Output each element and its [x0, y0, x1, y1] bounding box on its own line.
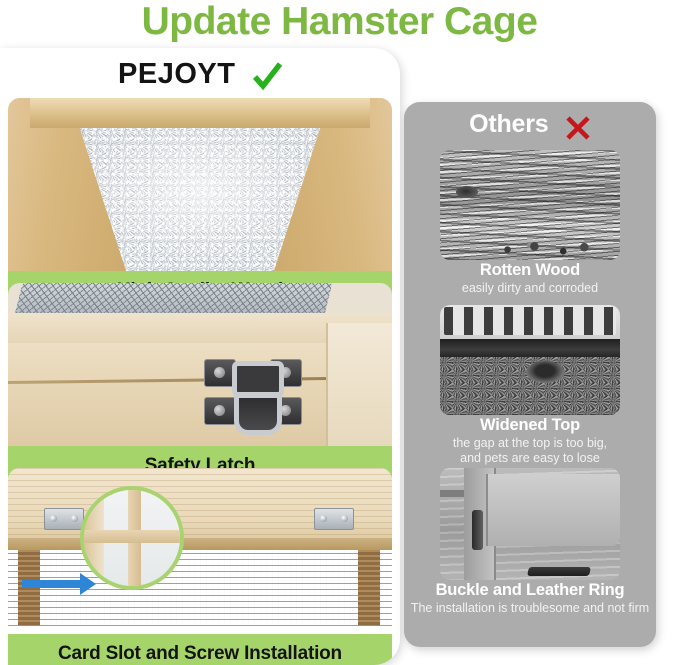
caption-title: Buckle and Leather Ring [404, 580, 656, 601]
top-gap [440, 339, 620, 357]
caption-title: Rotten Wood [404, 260, 656, 281]
caption-rotten-wood: Rotten Wood easily dirty and corroded [404, 260, 656, 296]
others-image-buckle-leather-ring [440, 468, 620, 580]
caption-subtitle-line1: the gap at the top is too big, [404, 436, 656, 451]
feature-image-card-slot-installation [8, 468, 392, 634]
brand-name: PEJOYT [118, 58, 235, 91]
screw-icon [214, 367, 225, 378]
magnifier-callout-card-slot [80, 486, 184, 590]
blue-arrow-icon [22, 580, 82, 588]
leather-ring [527, 567, 591, 576]
caption-title: Widened Top [404, 415, 656, 436]
wooden-lid-edge [8, 538, 392, 550]
metal-bracket-left [44, 508, 84, 530]
caption-title: Card Slot and Screw Installation [8, 634, 392, 665]
cage-bars [444, 307, 616, 335]
others-comparison-panel: Others Rotten Wood easily dirty and corr… [404, 102, 656, 647]
screw-icon [214, 405, 225, 416]
latch-hook [234, 393, 282, 435]
wood-knot [456, 186, 478, 198]
door-panel [486, 474, 620, 546]
cage-corner-post-left [18, 550, 40, 626]
caption-subtitle: The installation is troublesome and not … [404, 601, 656, 616]
brand-comparison-card: PEJOYT High Quality Wood using waterproo… [0, 48, 400, 665]
check-icon [252, 62, 282, 92]
caption-subtitle: easily dirty and corroded [404, 281, 656, 296]
latch-plate [204, 397, 236, 425]
feature-image-high-quality-wood [8, 98, 392, 271]
others-image-widened-top [440, 305, 620, 415]
buckle-strap [472, 510, 483, 550]
feature-image-safety-latch [8, 283, 392, 446]
caption-buckle-leather-ring: Buckle and Leather Ring The installation… [404, 580, 656, 616]
caption-widened-top: Widened Top the gap at the top is too bi… [404, 415, 656, 465]
others-image-rotten-wood [440, 150, 620, 260]
others-header: Others [404, 110, 656, 144]
cross-icon [565, 115, 591, 141]
mold-spots [496, 240, 592, 256]
others-label: Others [469, 110, 548, 139]
caption-subtitle-line2: and pets are easy to lose [404, 451, 656, 466]
toggle-latch-hardware [204, 353, 302, 431]
wood-right-edge [326, 323, 392, 446]
metal-bracket-right [314, 508, 354, 530]
product-comparison-infographic: Update Hamster Cage PEJOYT High Quality … [0, 0, 679, 665]
page-title: Update Hamster Cage [0, 0, 679, 46]
food-bowl [526, 361, 564, 383]
wooden-lid [8, 468, 392, 544]
cage-corner-post-right [358, 550, 380, 626]
caption-card-slot-installation: Card Slot and Screw Installation card sl… [8, 634, 392, 665]
tray-wood-rail-top [30, 98, 370, 128]
wire-mesh-panel [8, 550, 392, 626]
brand-header: PEJOYT [0, 58, 400, 98]
callout-horizontal-slot [84, 530, 180, 543]
latch-loop [232, 361, 284, 397]
